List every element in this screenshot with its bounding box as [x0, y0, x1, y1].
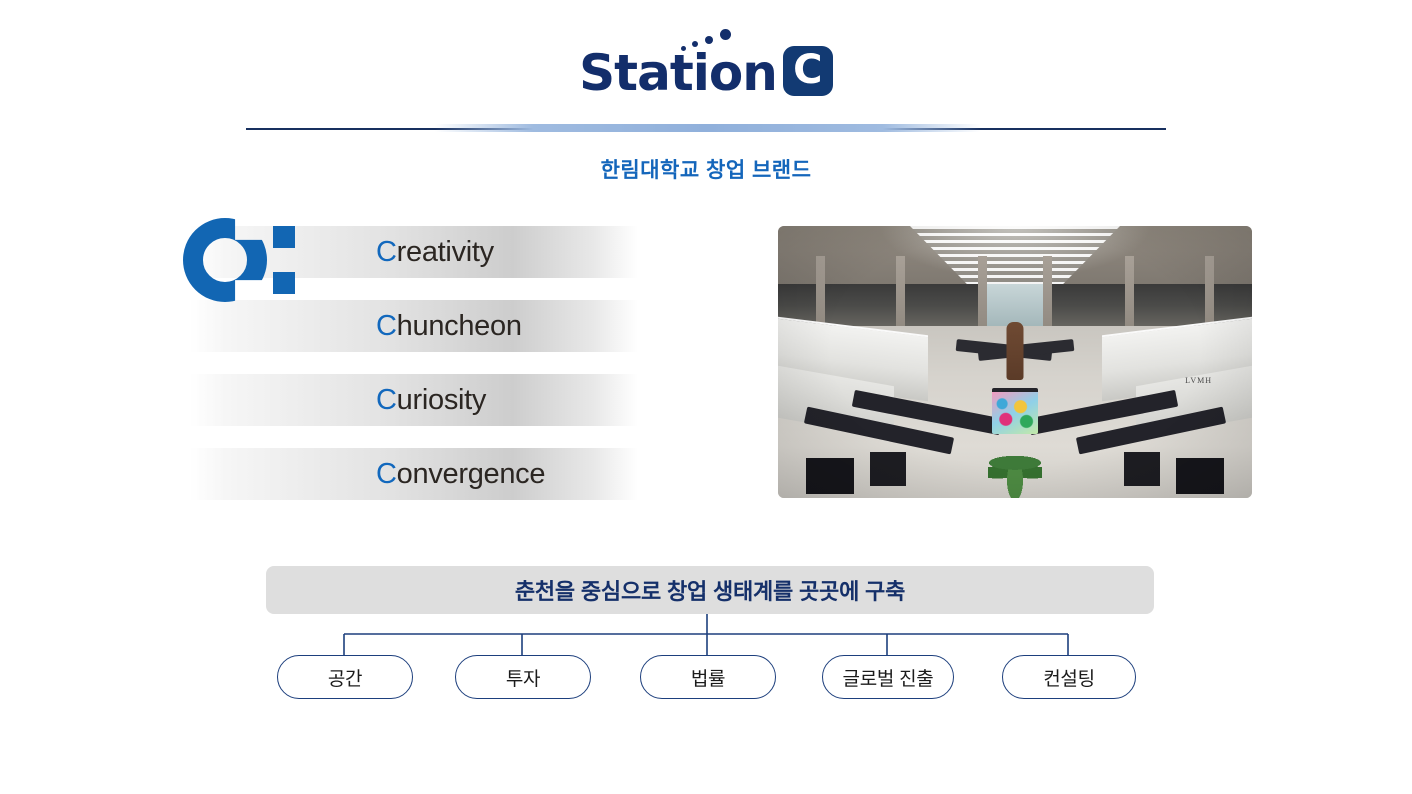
ecosystem-node-consulting[interactable]: 컨설팅 [1002, 655, 1136, 699]
concept-item-chuncheon: Chuncheon [190, 300, 638, 352]
header-divider-highlight [435, 124, 981, 132]
concept-label: Convergence [376, 458, 545, 491]
brand-logo: Station C [0, 46, 1412, 98]
concept-initial: C [376, 310, 397, 342]
ecosystem-banner: 춘천을 중심으로 창업 생태계를 곳곳에 구축 [266, 566, 1154, 614]
concept-rest: reativity [397, 236, 494, 268]
logo-wordmark: Station [579, 48, 777, 98]
concept-rest: uriosity [397, 384, 486, 416]
concept-initial: C [376, 384, 397, 416]
concept-initial: C [376, 458, 397, 490]
campus-photo: LVMH [778, 226, 1252, 498]
c-colon-mark-icon [183, 218, 303, 306]
concept-initial: C [376, 236, 397, 268]
brand-subtitle: 한림대학교 창업 브랜드 [0, 154, 1412, 184]
logo-c-badge: C [783, 46, 833, 96]
ecosystem-node-space[interactable]: 공간 [277, 655, 413, 699]
concept-item-curiosity: Curiosity [190, 374, 638, 426]
concept-label: Curiosity [376, 384, 486, 417]
concept-rest: huncheon [397, 310, 522, 342]
concept-item-convergence: Convergence [190, 448, 638, 500]
logo-c-badge-letter: C [793, 50, 822, 90]
ecosystem-node-investment[interactable]: 투자 [455, 655, 591, 699]
ecosystem-node-global[interactable]: 글로벌 진출 [822, 655, 954, 699]
concept-label: Creativity [376, 236, 494, 269]
slide-canvas: Station C 한림대학교 창업 브랜드 Creativity Chunch… [0, 0, 1412, 794]
concept-rest: onvergence [397, 458, 546, 490]
concept-label: Chuncheon [376, 310, 522, 343]
logo-dots-icon [679, 31, 749, 53]
photo-vignette [778, 226, 1252, 498]
ecosystem-node-legal[interactable]: 법률 [640, 655, 776, 699]
